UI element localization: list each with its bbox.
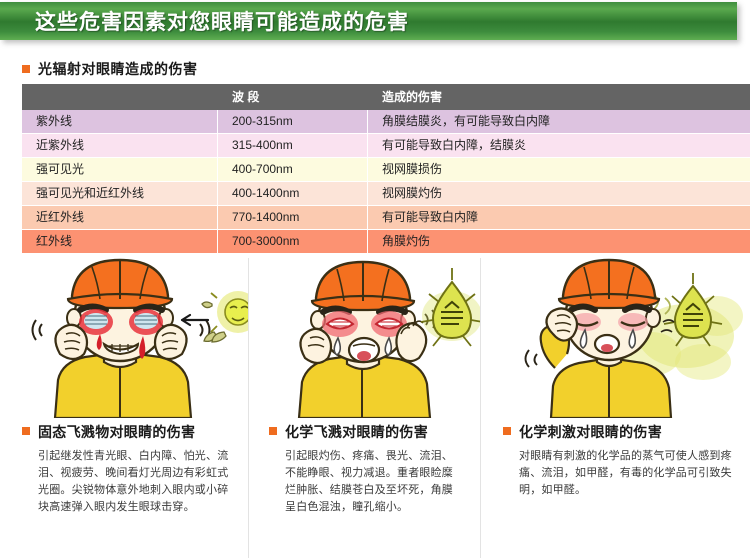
panel-1-title: 固态飞溅物对眼睛的伤害 bbox=[38, 422, 195, 442]
cell-harm: 有可能导致白内障 bbox=[368, 206, 750, 230]
cell-band: 400-1400nm bbox=[218, 182, 368, 206]
square-bullet-icon bbox=[503, 427, 511, 435]
cell-type: 近红外线 bbox=[22, 206, 218, 230]
illustration-chemical-splash bbox=[249, 258, 480, 418]
illustration-solid-debris bbox=[0, 258, 248, 418]
page-title: 这些危害因素对您眼睛可能造成的危害 bbox=[35, 6, 409, 36]
panel-2-title: 化学飞溅对眼睛的伤害 bbox=[285, 422, 428, 442]
page-banner: 这些危害因素对您眼睛可能造成的危害 bbox=[0, 0, 750, 48]
table-head: 波 段 造成的伤害 bbox=[22, 84, 750, 110]
cell-harm: 有可能导致白内障，结膜炎 bbox=[368, 134, 750, 158]
square-bullet-icon bbox=[22, 427, 30, 435]
table-header-row: 波 段 造成的伤害 bbox=[22, 84, 750, 110]
cell-band: 200-315nm bbox=[218, 110, 368, 134]
cell-band: 400-700nm bbox=[218, 158, 368, 182]
cell-harm: 角膜结膜炎，有可能导致白内障 bbox=[368, 110, 750, 134]
panel-1-text: 引起继发性青光眼、白内障、怕光、流泪、视疲劳、晚间看灯光周边有彩虹式光圈。尖锐物… bbox=[38, 448, 230, 516]
panel-2-caption: 化学飞溅对眼睛的伤害 bbox=[269, 422, 480, 442]
illustration-panels: 固态飞溅物对眼睛的伤害 引起继发性青光眼、白内障、怕光、流泪、视疲劳、晚间看灯光… bbox=[0, 258, 750, 558]
cell-band: 770-1400nm bbox=[218, 206, 368, 230]
section-heading: 光辐射对眼睛造成的伤害 bbox=[22, 59, 750, 79]
cell-harm: 角膜灼伤 bbox=[368, 230, 750, 254]
panel-2-text: 引起眼灼伤、疼痛、畏光、流泪、不能睁眼、视力减退。重者眼睑糜烂肿胀、结膜苍白及至… bbox=[285, 448, 464, 516]
col-header-type bbox=[22, 84, 218, 110]
square-bullet-icon bbox=[22, 65, 30, 73]
section-heading-label: 光辐射对眼睛造成的伤害 bbox=[38, 59, 198, 79]
square-bullet-icon bbox=[269, 427, 277, 435]
cell-type: 红外线 bbox=[22, 230, 218, 254]
panel-chemical-vapor: 化学刺激对眼睛的伤害 对眼睛有刺激的化学品的蒸气可使人感到疼痛、流泪，如甲醛，有… bbox=[480, 258, 750, 558]
banner-bar: 这些危害因素对您眼睛可能造成的危害 bbox=[0, 2, 737, 40]
cell-type: 紫外线 bbox=[22, 110, 218, 134]
table-body: 紫外线200-315nm角膜结膜炎，有可能导致白内障近紫外线315-400nm有… bbox=[22, 110, 750, 254]
radiation-harm-table: 波 段 造成的伤害 紫外线200-315nm角膜结膜炎，有可能导致白内障近紫外线… bbox=[22, 84, 750, 254]
table-row: 红外线700-3000nm角膜灼伤 bbox=[22, 230, 750, 254]
cell-type: 强可见光 bbox=[22, 158, 218, 182]
table-row: 近红外线770-1400nm有可能导致白内障 bbox=[22, 206, 750, 230]
table-row: 强可见光和近红外线400-1400nm视网膜灼伤 bbox=[22, 182, 750, 206]
col-header-band: 波 段 bbox=[218, 84, 368, 110]
panel-1-caption: 固态飞溅物对眼睛的伤害 bbox=[22, 422, 248, 442]
panel-chemical-splash: 化学飞溅对眼睛的伤害 引起眼灼伤、疼痛、畏光、流泪、不能睁眼、视力减退。重者眼睑… bbox=[248, 258, 480, 558]
panel-3-title: 化学刺激对眼睛的伤害 bbox=[519, 422, 662, 442]
table-row: 紫外线200-315nm角膜结膜炎，有可能导致白内障 bbox=[22, 110, 750, 134]
cell-type: 近紫外线 bbox=[22, 134, 218, 158]
cell-type: 强可见光和近红外线 bbox=[22, 182, 218, 206]
cell-band: 700-3000nm bbox=[218, 230, 368, 254]
cell-harm: 视网膜损伤 bbox=[368, 158, 750, 182]
table-row: 近紫外线315-400nm有可能导致白内障，结膜炎 bbox=[22, 134, 750, 158]
panel-3-text: 对眼睛有刺激的化学品的蒸气可使人感到疼痛、流泪，如甲醛，有毒的化学品可引致失明，… bbox=[519, 448, 736, 499]
col-header-harm: 造成的伤害 bbox=[368, 84, 750, 110]
panel-solid-debris: 固态飞溅物对眼睛的伤害 引起继发性青光眼、白内障、怕光、流泪、视疲劳、晚间看灯光… bbox=[0, 258, 248, 558]
cell-harm: 视网膜灼伤 bbox=[368, 182, 750, 206]
table-row: 强可见光400-700nm视网膜损伤 bbox=[22, 158, 750, 182]
cell-band: 315-400nm bbox=[218, 134, 368, 158]
illustration-chemical-vapor bbox=[481, 258, 750, 418]
panel-3-caption: 化学刺激对眼睛的伤害 bbox=[503, 422, 750, 442]
